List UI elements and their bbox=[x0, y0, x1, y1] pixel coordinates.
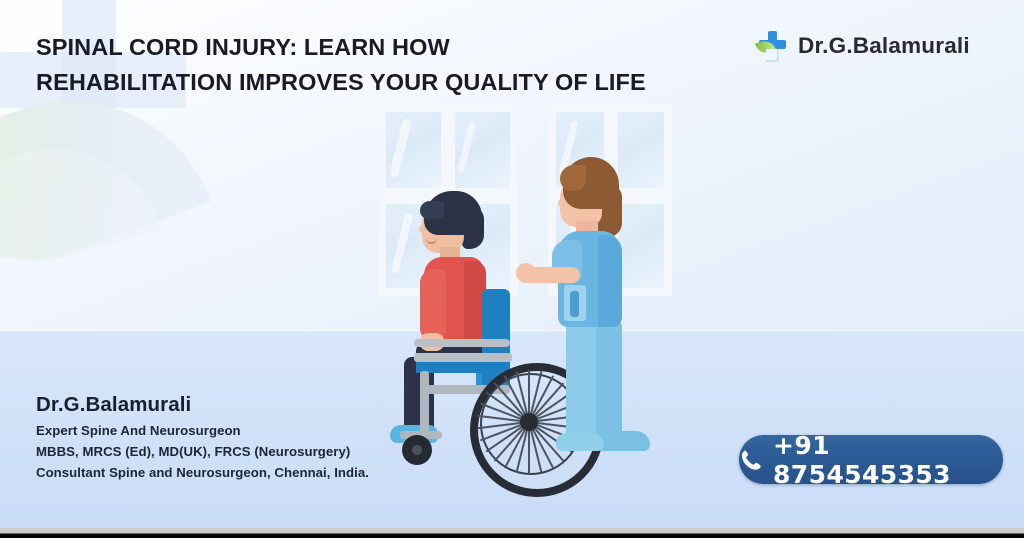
page-title: SPINAL CORD INJURY: LEARN HOW REHABILITA… bbox=[36, 30, 736, 99]
wheelchair-seat-cushion bbox=[414, 353, 512, 362]
nurse-scrub-shadow bbox=[598, 235, 622, 327]
wheelchair-caster-hub bbox=[412, 445, 422, 455]
phone-call-button[interactable]: +91 8754545353 bbox=[739, 435, 1003, 484]
nurse-pocket-item bbox=[570, 291, 579, 317]
phone-handset-icon bbox=[739, 449, 761, 471]
medical-cross-leaf-icon bbox=[757, 30, 788, 61]
wheelchair-armrest bbox=[414, 339, 510, 347]
patient-hair-front bbox=[420, 201, 444, 219]
phone-number: +91 8754545353 bbox=[773, 431, 1003, 489]
nurse-hand bbox=[516, 263, 536, 283]
poster-canvas: SPINAL CORD INJURY: LEARN HOW REHABILITA… bbox=[0, 0, 1024, 538]
nurse-pant-right bbox=[592, 319, 622, 441]
doctor-role-location: Consultant Spine and Neurosurgeon, Chenn… bbox=[36, 463, 369, 484]
doctor-name: Dr.G.Balamurali bbox=[36, 393, 369, 417]
wheelchair-frame-vertical bbox=[420, 371, 429, 437]
nurse-shoe-right bbox=[598, 431, 650, 451]
headline-line-2: REHABILITATION IMPROVES YOUR QUALITY OF … bbox=[36, 65, 736, 100]
nurse-shoe-left bbox=[556, 433, 604, 451]
brand-logo[interactable]: Dr.G.Balamurali bbox=[757, 30, 970, 61]
nurse-pant-left bbox=[566, 319, 596, 441]
doctor-specialty: Expert Spine And Neurosurgeon bbox=[36, 421, 369, 442]
bottom-border bbox=[0, 528, 1024, 538]
patient-sleeve bbox=[420, 269, 446, 339]
doctor-credentials: Dr.G.Balamurali Expert Spine And Neurosu… bbox=[36, 393, 369, 484]
nurse-hair-front bbox=[560, 165, 586, 191]
wheelchair-illustration bbox=[370, 95, 680, 455]
wheelchair-wheel-hub bbox=[520, 413, 538, 431]
brand-name: Dr.G.Balamurali bbox=[798, 33, 970, 59]
headline-line-1: SPINAL CORD INJURY: LEARN HOW bbox=[36, 30, 736, 65]
doctor-qualifications: MBBS, MRCS (Ed), MD(UK), FRCS (Neurosurg… bbox=[36, 442, 369, 463]
